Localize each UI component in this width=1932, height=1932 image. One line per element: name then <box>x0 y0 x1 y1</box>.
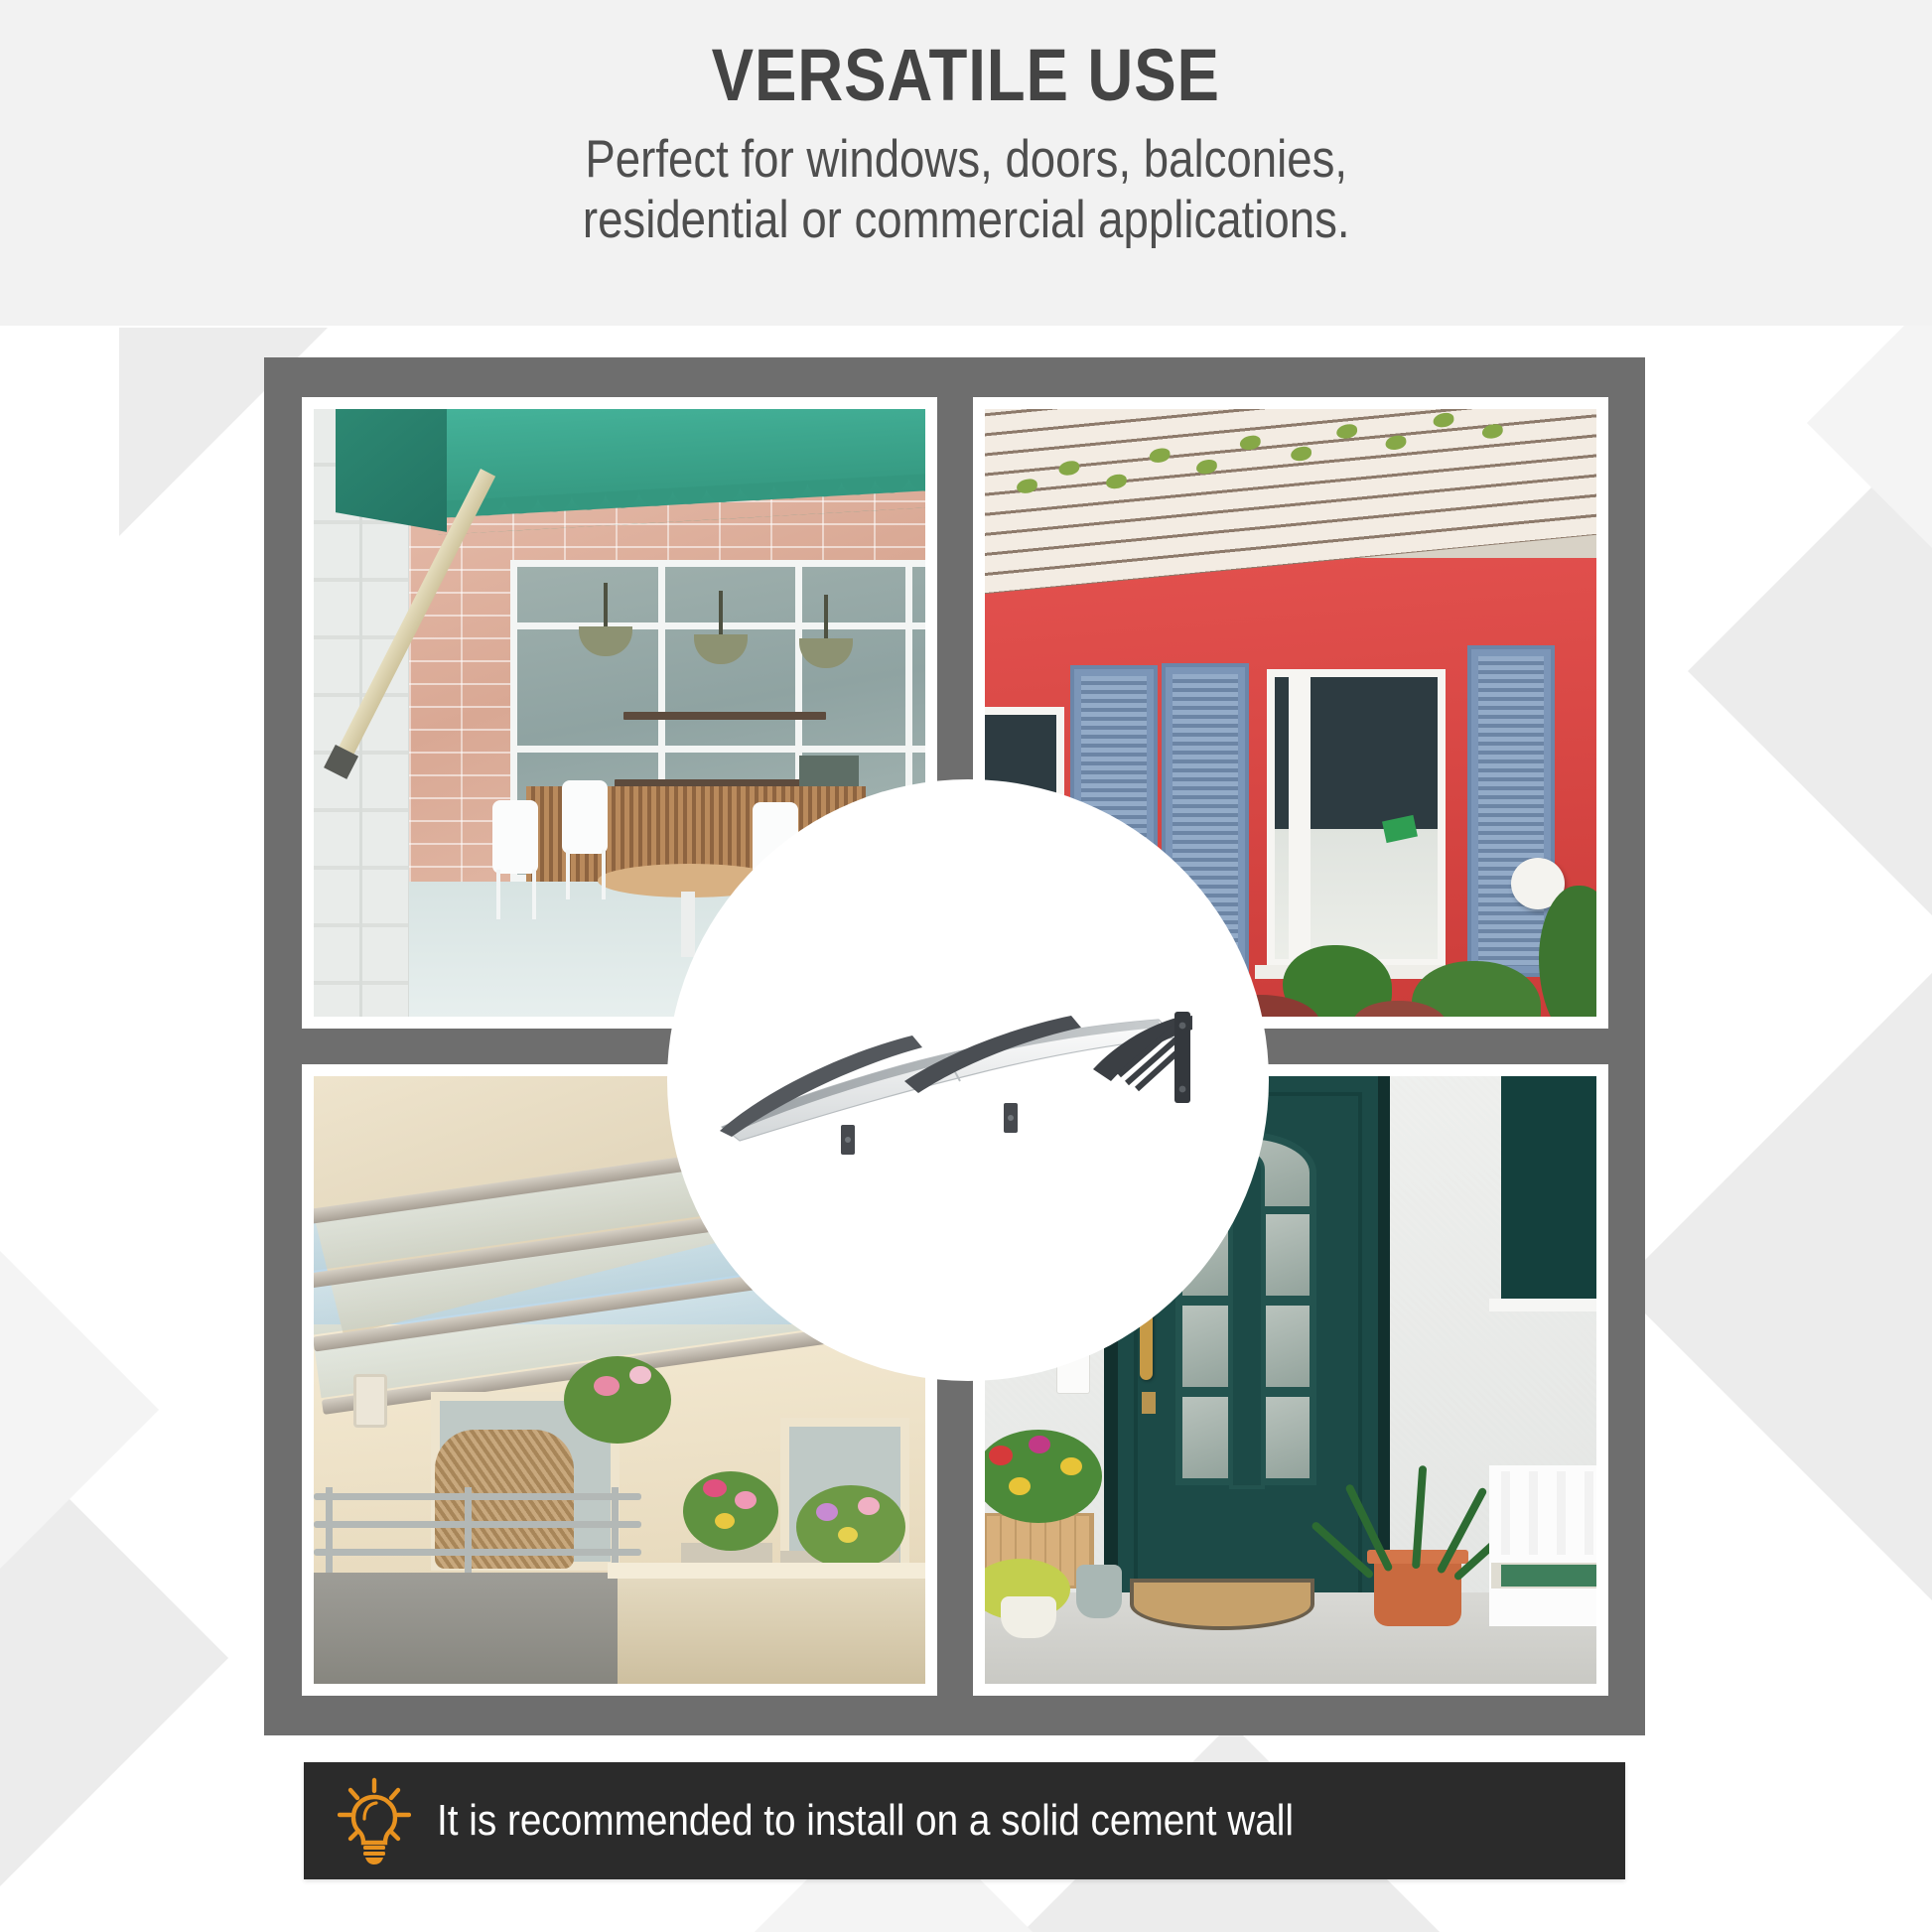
door-canopy-awning-icon <box>710 986 1226 1174</box>
product-callout-circle <box>667 779 1269 1381</box>
lightbulb-icon <box>338 1777 411 1864</box>
page-title: VERSATILE USE <box>712 36 1220 115</box>
page-subtitle: Perfect for windows, doors, balconies, r… <box>583 129 1350 251</box>
header-band: VERSATILE USE Perfect for windows, doors… <box>0 0 1932 326</box>
installation-tip-banner: It is recommended to install on a solid … <box>304 1762 1625 1879</box>
installation-tip-text: It is recommended to install on a solid … <box>437 1796 1294 1846</box>
